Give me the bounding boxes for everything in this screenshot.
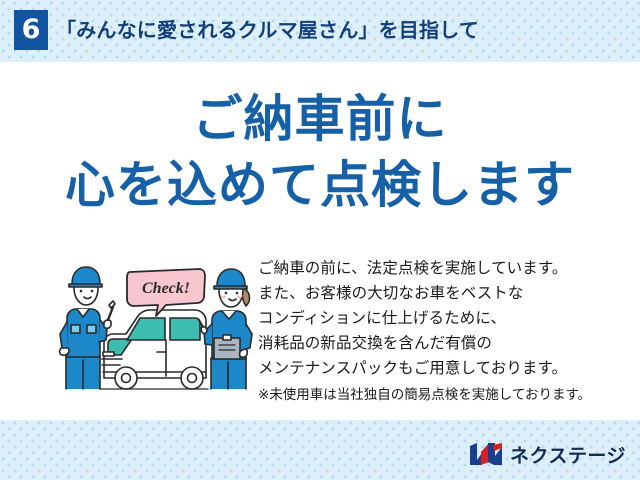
headline-line-1: ご納車前に: [0, 90, 640, 148]
body-note: ※未使用車は当社独自の簡易点検を実施しております。: [258, 383, 628, 407]
brand-logo: ネクステージ: [469, 440, 626, 468]
check-bubble-label: Check!: [142, 280, 190, 297]
body-line-5: メンテナンスパックもご用意しております。: [258, 356, 628, 381]
headline-line-2: 心を込めて点検します: [0, 156, 640, 214]
page-title: 「みんなに愛されるクルマ屋さん」を目指して: [56, 14, 479, 48]
page-header: 6 「みんなに愛されるクルマ屋さん」を目指して: [0, 0, 640, 62]
body-copy: ご納車の前に、法定点検を実施しています。 また、お客様の大切なお車をベストな コ…: [258, 256, 628, 407]
body-line-1: ご納車の前に、法定点検を実施しています。: [258, 256, 628, 281]
body-line-3: コンディションに仕上げるために、: [258, 306, 628, 331]
brand-name: ネクステージ: [510, 441, 626, 468]
promo-page: 6 「みんなに愛されるクルマ屋さん」を目指して ご納車前に 心を込めて点検します: [0, 0, 640, 480]
content-card: ご納車前に 心を込めて点検します: [0, 62, 640, 420]
nextage-n-mark-icon: [469, 442, 503, 466]
body-line-4: 消耗品の新品交換を含んだ有償の: [258, 331, 628, 356]
section-number-badge: 6: [14, 10, 48, 50]
body-line-2: また、お客様の大切なお車をベストな: [258, 281, 628, 306]
van-illustration: [100, 310, 208, 389]
mechanic-right: [199, 269, 252, 389]
mechanics-illustration: Check!: [56, 260, 256, 402]
